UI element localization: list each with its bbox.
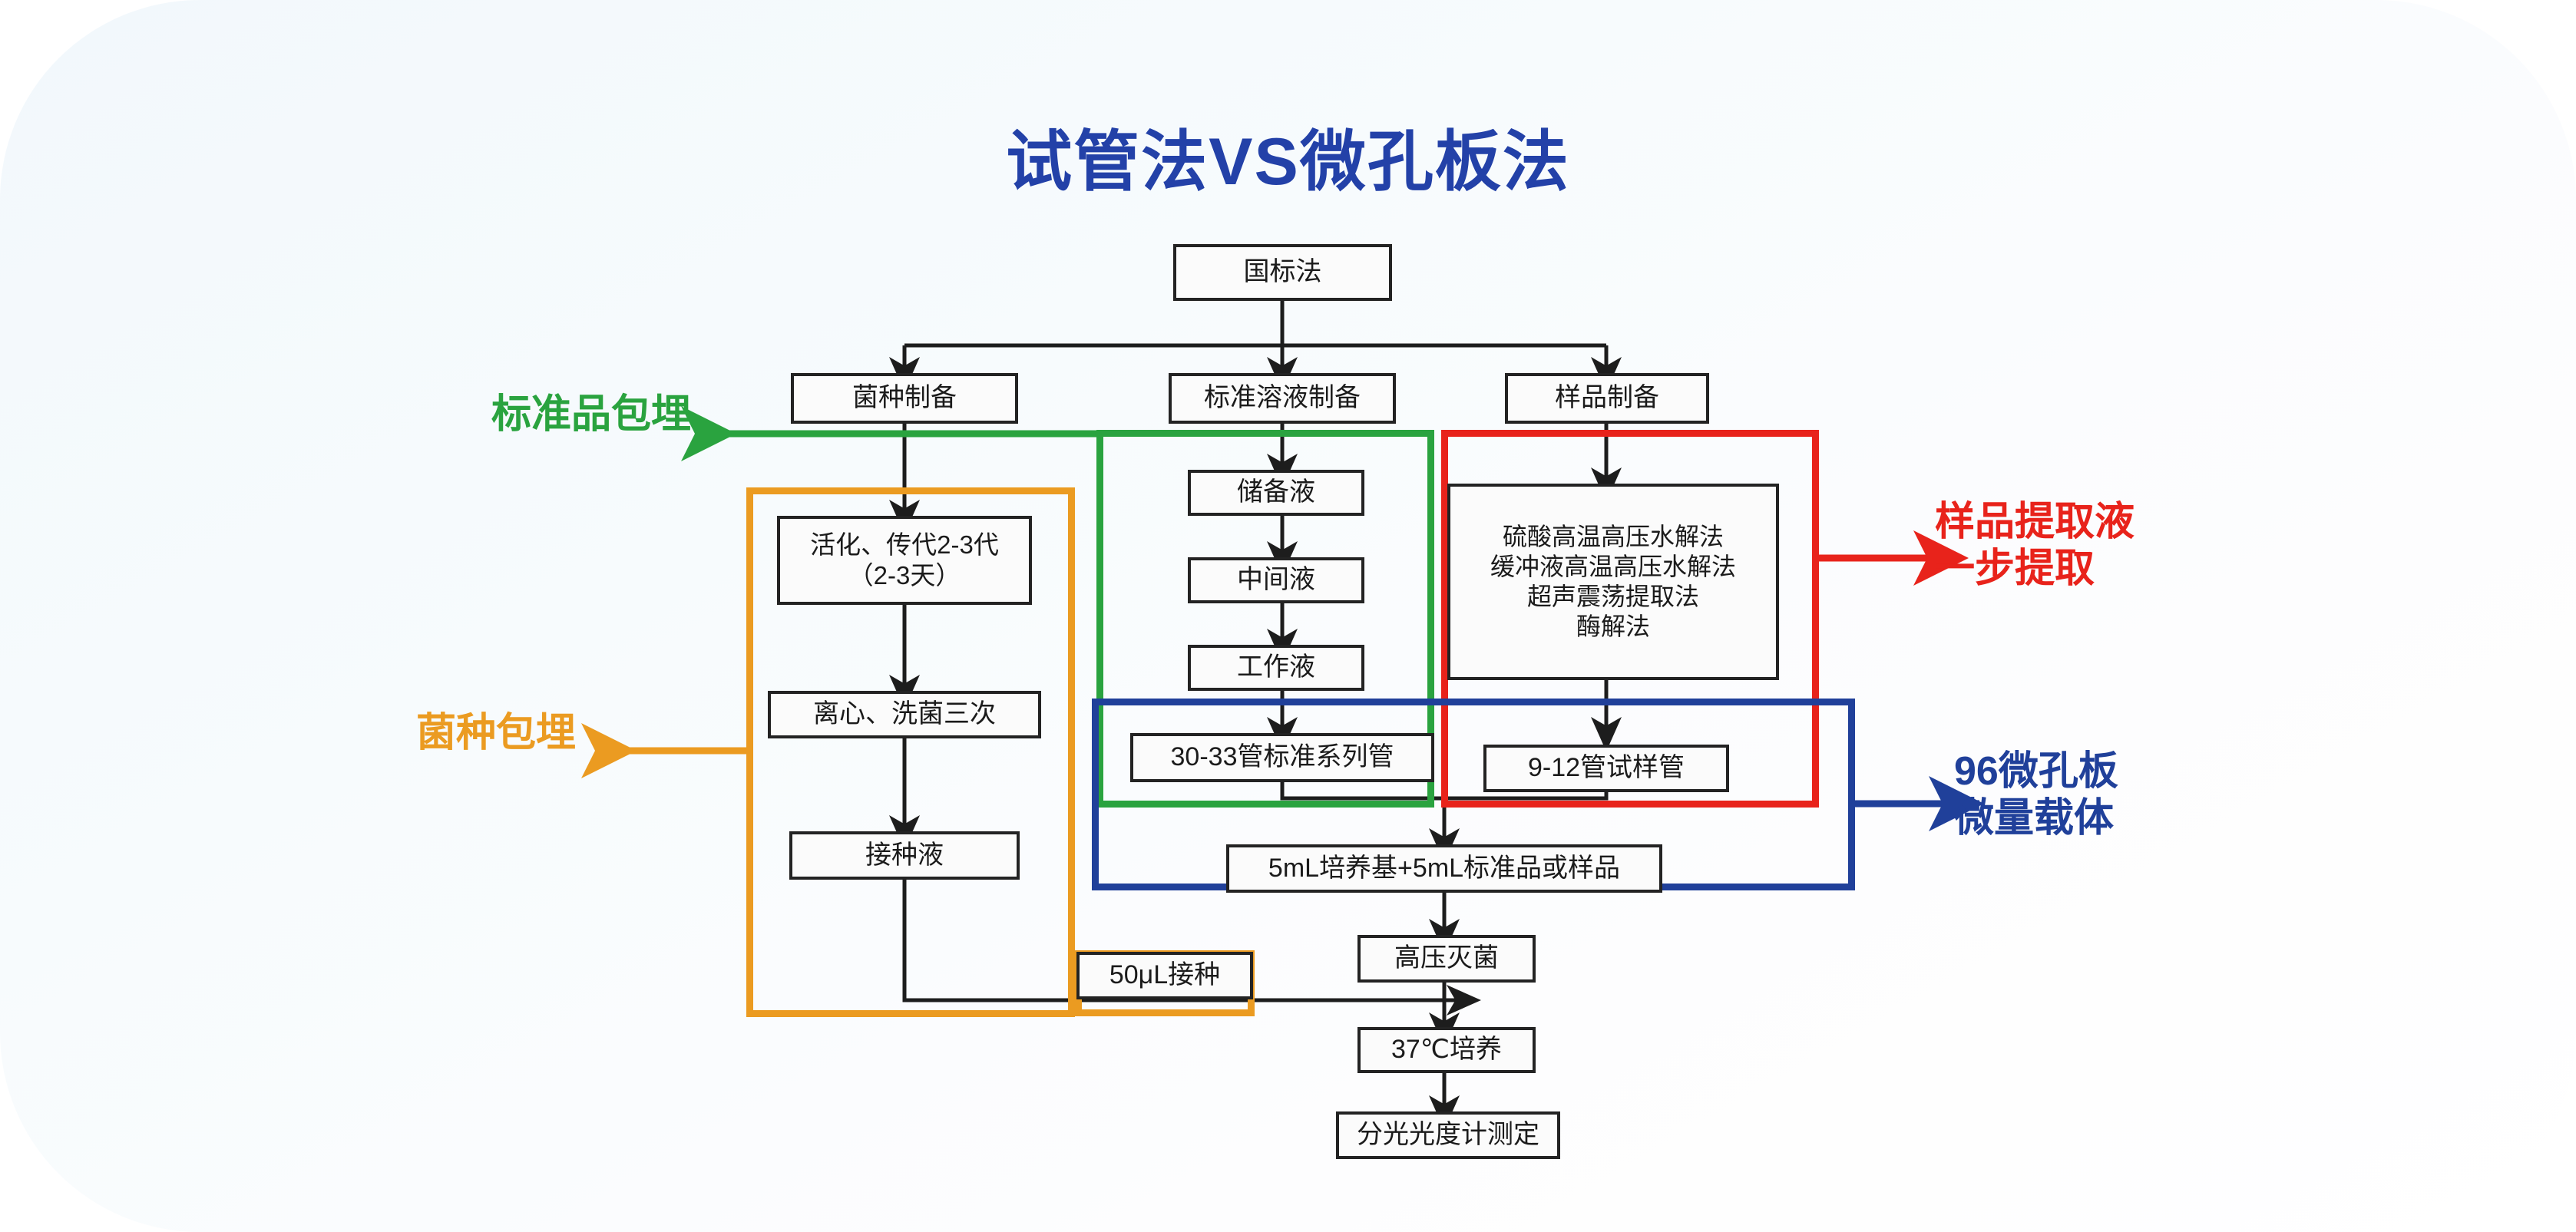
annotation-96-well-plate-line1: 96微孔板 [1954,748,2118,795]
annotation-sample-extract-line2: 一步提取 [1935,546,2135,593]
slide-canvas: 试管法VS微孔板法 [0,0,2576,1232]
annotation-strain-embedding: 菌种包埋 [346,710,576,757]
annotation-arrows [0,0,2576,1232]
annotation-sample-extract-line1: 样品提取液 [1935,499,2135,546]
annotation-96-well-plate-line2: 微量载体 [1954,795,2118,842]
annotation-standard-embedding: 标准品包埋 [407,391,691,438]
annotation-96-well-plate: 96微孔板 微量载体 [1954,748,2118,843]
annotation-sample-extract: 样品提取液 一步提取 [1935,499,2135,593]
